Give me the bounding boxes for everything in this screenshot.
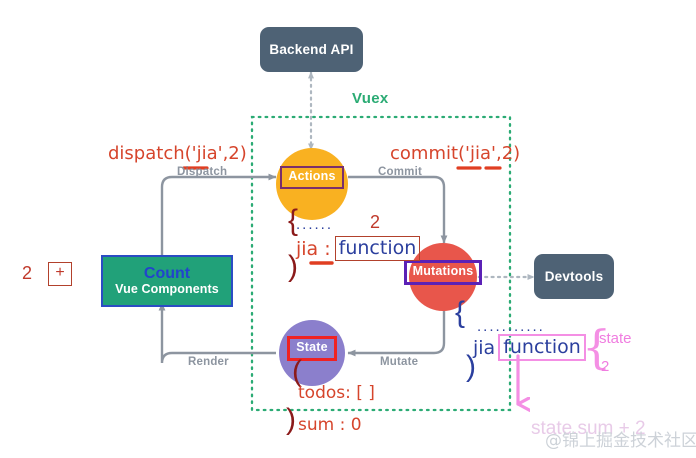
- state-close-brace: ): [286, 405, 296, 435]
- watermark: @锦上掘金技术社区: [545, 426, 696, 451]
- mutate-connector: [348, 310, 444, 353]
- state-todos: todos: [ ]: [298, 383, 375, 403]
- dispatch-connector: [162, 177, 276, 255]
- node-devtools[interactable]: Devtools: [534, 254, 614, 299]
- mutations-jia-function-box: function: [498, 334, 586, 361]
- pink-param-value: 2: [601, 358, 609, 375]
- actions-dots: ......: [296, 216, 333, 233]
- backend-api-label: Backend API: [269, 42, 353, 57]
- actions-jia-entry: jia : function: [296, 236, 420, 261]
- actions-jia-function-box: function: [335, 236, 421, 261]
- node-actions[interactable]: Actions: [276, 148, 348, 220]
- node-backend-api[interactable]: Backend API: [260, 27, 363, 72]
- node-vue-components[interactable]: Count Vue Components: [101, 255, 233, 307]
- annotation-dispatch-call: dispatch('jia',2): [108, 143, 247, 164]
- node-state[interactable]: State: [279, 320, 345, 386]
- flow-label-dispatch: Dispatch: [177, 166, 227, 178]
- pink-param-state: state: [599, 330, 632, 347]
- flow-label-commit: Commit: [378, 166, 422, 178]
- flow-label-render: Render: [188, 356, 229, 368]
- vue-components-subtitle: Vue Components: [115, 282, 219, 296]
- mutations-close-brace: ): [466, 352, 476, 382]
- devtools-label: Devtools: [545, 269, 604, 284]
- commit-connector: [348, 177, 444, 243]
- actions-close-brace: ): [288, 252, 298, 282]
- plus-button[interactable]: +: [48, 262, 72, 286]
- render-connector: [162, 303, 276, 363]
- annotation-commit-call: commit('jia',2): [390, 143, 520, 164]
- input-value-2: 2: [22, 263, 32, 284]
- mutations-dots: ...........: [477, 318, 545, 335]
- mutations-label: Mutations: [404, 260, 483, 285]
- actions-label: Actions: [280, 166, 343, 189]
- vuex-boundary-label: Vuex: [352, 90, 389, 107]
- state-sum: sum : 0: [298, 415, 362, 435]
- mutations-jia-entry: jia function: [473, 334, 586, 361]
- vue-components-title: Count: [144, 266, 190, 283]
- mutations-jia-key: jia: [473, 337, 495, 359]
- mutations-open-brace: {: [455, 298, 465, 328]
- actions-arg-2: 2: [370, 212, 380, 233]
- diagram-canvas: Backend API Devtools Vuex Count Vue Comp…: [0, 0, 696, 458]
- actions-jia-key: jia :: [296, 238, 331, 260]
- flow-label-mutate: Mutate: [380, 356, 418, 368]
